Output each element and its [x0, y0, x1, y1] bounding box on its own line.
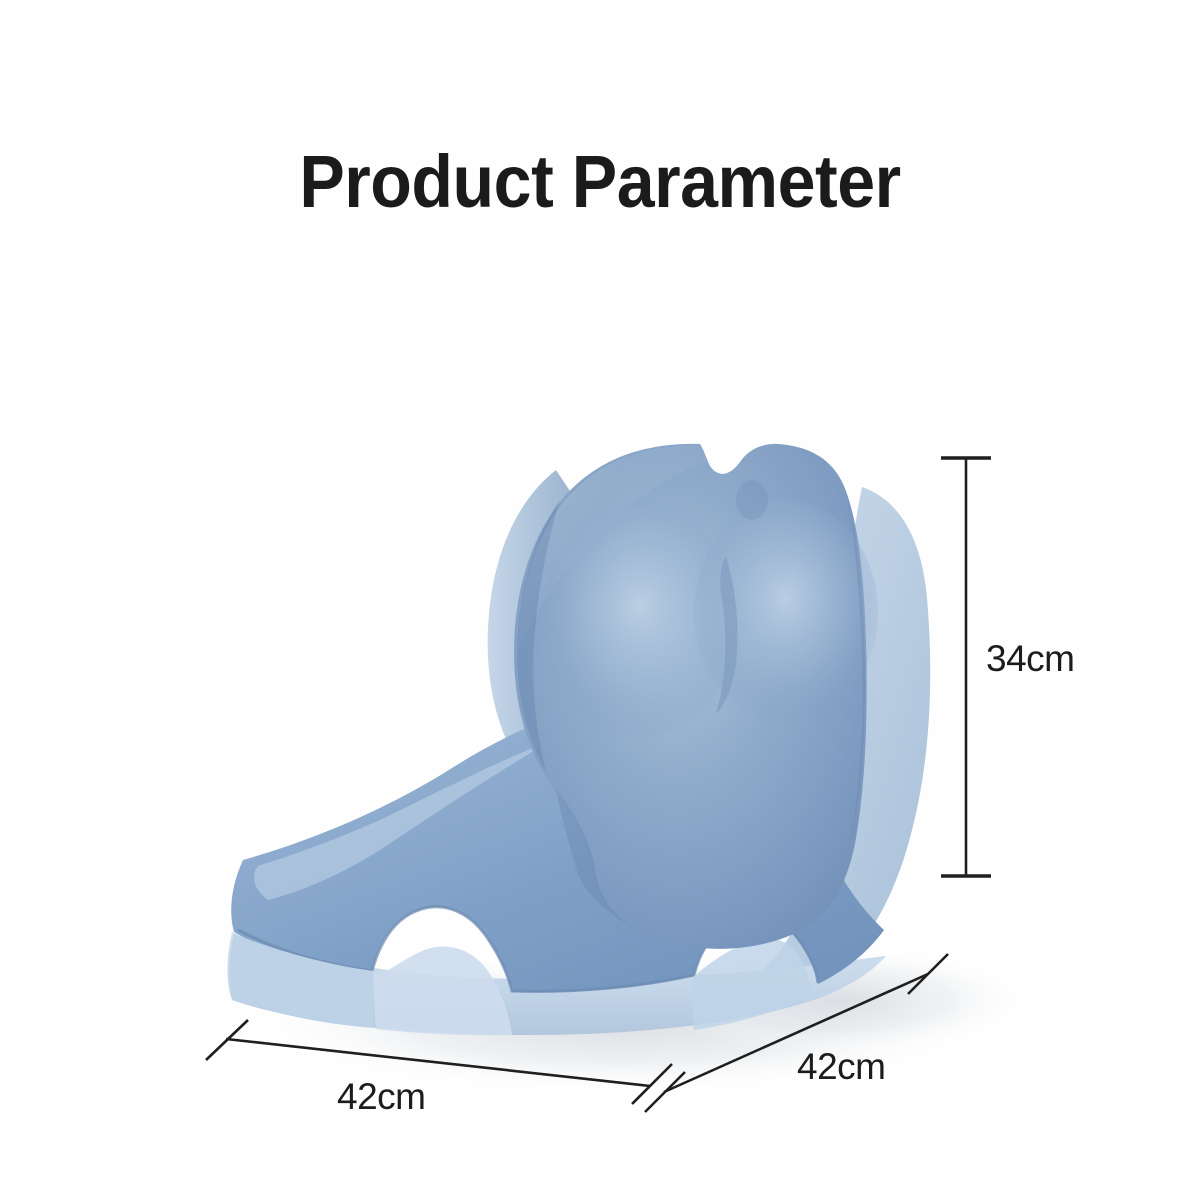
dimension-label-height: 34cm	[986, 638, 1074, 680]
dimension-label-depth: 42cm	[337, 1076, 425, 1118]
dimension-annotations	[0, 0, 1200, 1200]
product-parameter-page: Product Parameter	[0, 0, 1200, 1200]
dimension-label-width: 42cm	[797, 1046, 885, 1088]
dim-line-depth	[226, 1039, 650, 1086]
dim-cap-width-left	[645, 1072, 685, 1112]
dim-cap-width-right	[908, 954, 948, 994]
dim-line-width	[664, 974, 928, 1092]
